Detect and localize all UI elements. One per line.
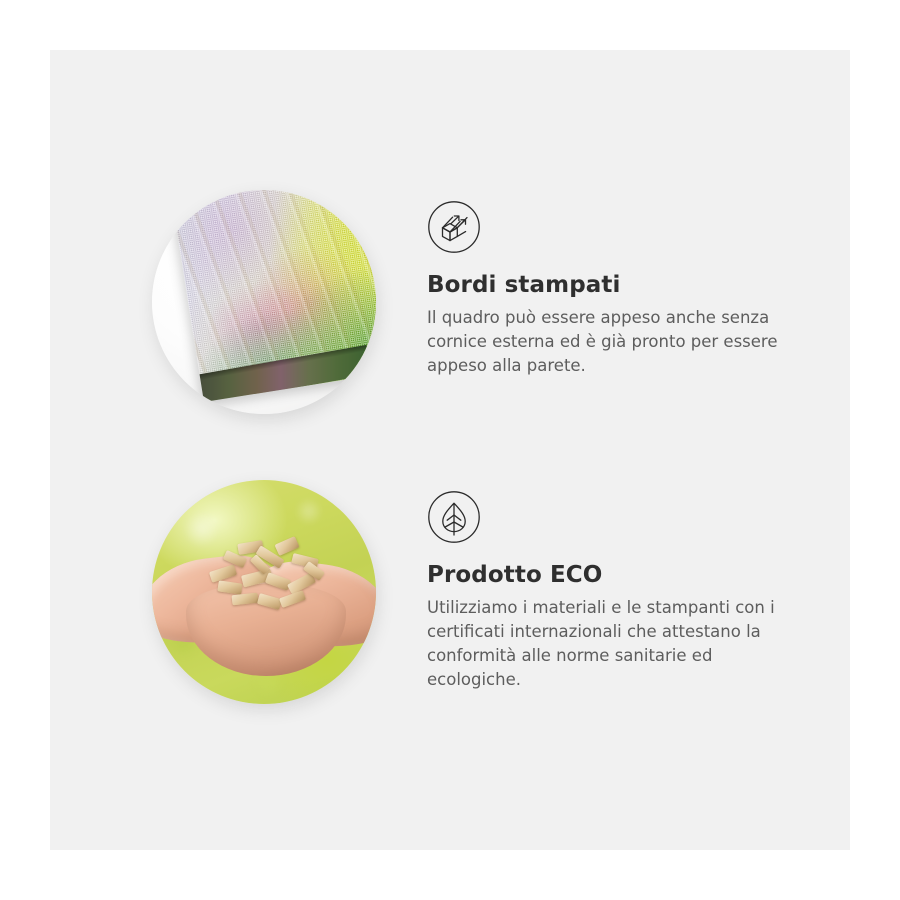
product-feature-infographic: Bordi stampati Il quadro può essere appe… bbox=[0, 0, 900, 900]
feature-row-eco-product: Prodotto ECO Utilizziamo i materiali e l… bbox=[50, 480, 850, 710]
content-panel: Bordi stampati Il quadro può essere appe… bbox=[50, 50, 850, 850]
wood-chips-pile bbox=[204, 538, 332, 616]
canvas-photo-backdrop bbox=[152, 190, 376, 414]
leaf-icon bbox=[427, 490, 481, 544]
printed-edges-icon bbox=[427, 200, 481, 254]
feature-row-printed-edges: Bordi stampati Il quadro può essere appe… bbox=[50, 190, 850, 420]
feature-text-printed-edges: Bordi stampati Il quadro può essere appe… bbox=[427, 200, 797, 378]
canvas-block bbox=[170, 190, 376, 402]
hands-wood-chips-photo bbox=[152, 480, 376, 704]
feature-text-eco-product: Prodotto ECO Utilizziamo i materiali e l… bbox=[427, 490, 797, 692]
feature-title: Prodotto ECO bbox=[427, 562, 797, 590]
eco-photo-backdrop bbox=[152, 480, 376, 704]
feature-title: Bordi stampati bbox=[427, 272, 797, 300]
feature-description: Il quadro può essere appeso anche senza … bbox=[427, 306, 789, 378]
feature-description: Utilizziamo i materiali e le stampanti c… bbox=[427, 596, 789, 692]
canvas-corner-photo bbox=[152, 190, 376, 414]
